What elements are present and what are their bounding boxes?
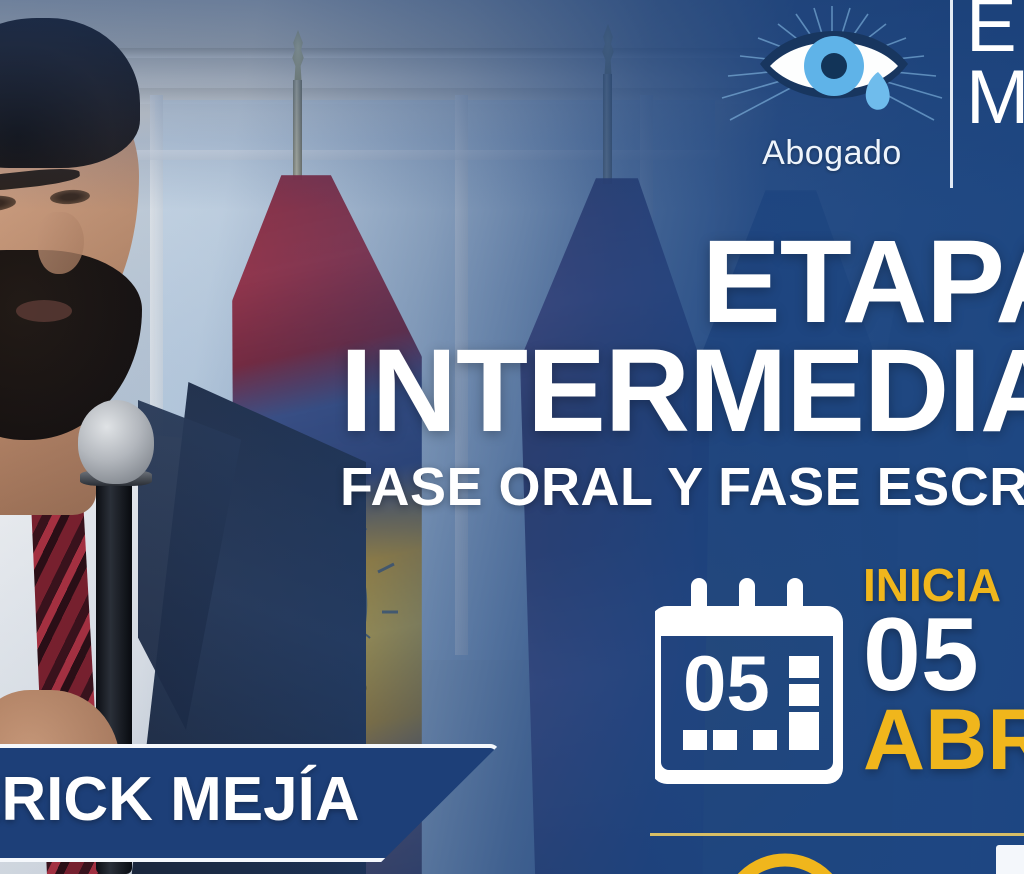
headline-line-1: ETAPA <box>340 228 1024 337</box>
headline-line-2: INTERMEDIA <box>340 337 1024 446</box>
date-day: 05 <box>863 610 1024 702</box>
date-month: ABR <box>863 702 1024 779</box>
brand-name-cropped: E M <box>966 0 1024 134</box>
brand-logo[interactable]: Abogado <box>714 6 950 192</box>
headline: ETAPA INTERMEDIA <box>340 228 1024 445</box>
subheadline: FASE ORAL Y FASE ESCRITA <box>340 456 1024 518</box>
eye-icon <box>754 14 914 118</box>
speaker-name: ERICK MEJÍA <box>0 764 400 835</box>
logo-caption: Abogado <box>714 134 950 173</box>
promo-graphic: Abogado E M ETAPA INTERMEDIA FASE ORAL Y… <box>0 0 1024 874</box>
date-text-block: INICIA 05 ABR <box>863 562 1024 779</box>
svg-text:05: 05 <box>683 639 770 727</box>
calendar-icon: 05 <box>655 570 855 785</box>
brand-name-line-2: M <box>966 62 1024 134</box>
speaker-name-banner: ERICK MEJÍA <box>0 744 500 862</box>
gold-divider <box>650 833 1024 836</box>
clock-icon <box>700 848 870 874</box>
start-date-block: 05 INICIA 05 ABR <box>655 562 1024 792</box>
brand-name-line-1: E <box>966 0 1024 62</box>
logo-divider <box>950 0 953 188</box>
corner-graphic <box>996 845 1024 874</box>
